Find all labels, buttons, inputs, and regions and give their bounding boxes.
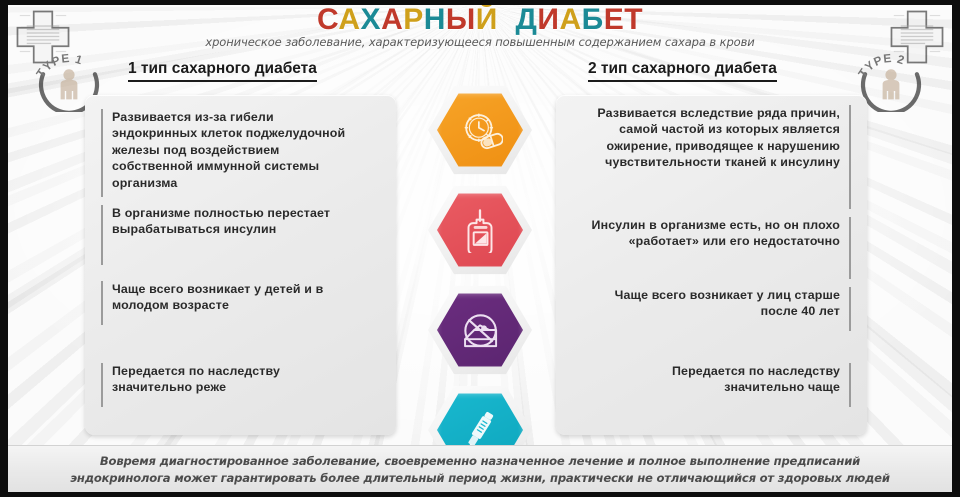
fact-item: Чаще всего возникает у лиц старше после … — [581, 287, 851, 331]
person-silhouette-icon — [61, 69, 78, 99]
hexagon-2[interactable] — [428, 184, 532, 276]
svg-text:TYPE 2: TYPE 2 — [856, 51, 907, 80]
panel-type-1: Развивается из-за гибели эндокринных кле… — [85, 95, 396, 435]
fact-text: Передается по наследству значительно реж… — [103, 363, 353, 396]
fact-item: Развивается из-за гибели эндокринных кле… — [101, 109, 371, 197]
accent-bar — [849, 105, 851, 209]
frame-edge-left — [0, 0, 8, 497]
clock-and-pill-icon — [457, 107, 503, 153]
fact-text: Развивается вследствие ряда причин, само… — [581, 105, 849, 171]
title-letter-9: Д — [516, 3, 538, 36]
fact-text: Инсулин в организме есть, но он плохо «р… — [581, 217, 849, 250]
title-letter-10: И — [537, 3, 559, 36]
fact-item: Передается по наследству значительно чащ… — [581, 363, 851, 407]
infographic-poster: TYPE 1 — [0, 0, 960, 497]
person-silhouette-icon — [883, 69, 900, 99]
title-letter-6: Ы — [446, 3, 476, 36]
title-letter-2: Х — [361, 3, 382, 36]
panel-type-2: Развивается вследствие ряда причин, само… — [556, 95, 867, 435]
footer-line-2: эндокринолога может гарантировать более … — [70, 471, 890, 485]
accent-bar — [849, 217, 851, 279]
footer-note: Вовремя диагностированное заболевание, с… — [8, 445, 952, 492]
fact-text: В организме полностью перестает вырабаты… — [103, 205, 343, 238]
hexagon-3[interactable] — [428, 284, 532, 376]
fact-item: Передается по наследству значительно реж… — [101, 363, 353, 407]
hexagon-icon-column — [425, 84, 535, 484]
title-letter-3: А — [381, 3, 403, 36]
column-heading-type-1: 1 тип сахарного диабета — [128, 60, 317, 82]
accent-bar — [849, 363, 851, 407]
title-letter-13: Е — [604, 3, 625, 36]
fact-text: Чаще всего возникает у детей и в молодом… — [103, 281, 375, 314]
column-heading-type-2: 2 тип сахарного диабета — [588, 60, 777, 82]
title-letter-0: С — [317, 3, 338, 36]
page-title: САХАРНЫЙ ДИАБЕТ — [0, 4, 960, 36]
title-letter-12: Б — [582, 3, 604, 36]
fact-item: Инсулин в организме есть, но он плохо «р… — [581, 217, 851, 279]
fact-text: Чаще всего возникает у лиц старше после … — [581, 287, 849, 320]
title-letter-7: Й — [476, 3, 498, 36]
title-letter-4: Р — [403, 3, 424, 36]
frame-edge-right — [952, 0, 960, 497]
fact-item: В организме полностью перестает вырабаты… — [101, 205, 343, 265]
title-letter-8 — [498, 3, 516, 36]
frame-edge-bottom — [0, 492, 960, 497]
title-letter-1: А — [338, 3, 360, 36]
fact-item: Развивается вследствие ряда причин, само… — [581, 105, 851, 209]
fact-text: Передается по наследству значительно чащ… — [581, 363, 849, 396]
glucose-meter-icon — [457, 207, 503, 253]
fact-text: Развивается из-за гибели эндокринных кле… — [103, 109, 371, 191]
svg-text:TYPE 1: TYPE 1 — [34, 51, 85, 80]
title-letter-14: Т — [624, 3, 643, 36]
fact-item: Чаще всего возникает у детей и в молодом… — [101, 281, 375, 325]
footer-line-1: Вовремя диагностированное заболевание, с… — [100, 454, 860, 468]
frame-edge-top — [0, 0, 960, 5]
title-letter-5: Н — [424, 3, 446, 36]
accent-bar — [849, 287, 851, 331]
title-letter-11: А — [559, 3, 581, 36]
page-subtitle: хроническое заболевание, характеризующее… — [0, 35, 960, 49]
no-sweets-icon — [457, 307, 503, 353]
hexagon-1[interactable] — [428, 84, 532, 176]
